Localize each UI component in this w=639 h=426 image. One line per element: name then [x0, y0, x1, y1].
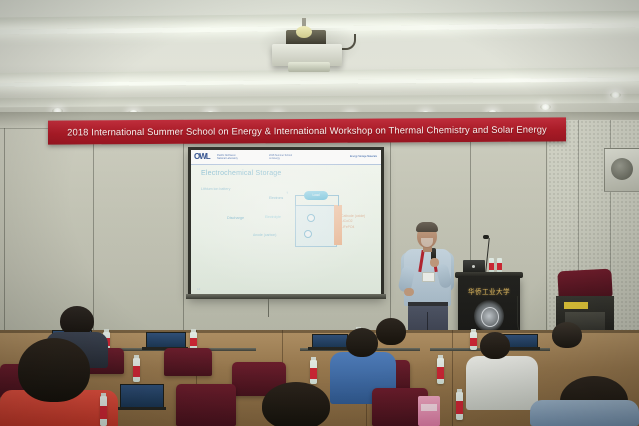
seat — [164, 348, 212, 376]
water-bottle — [100, 396, 107, 426]
slide-title: Electrochemical Storage — [201, 170, 281, 177]
projector-cable-bundle — [296, 26, 312, 38]
lecture-hall-photo: 2018 International Summer School on Ener… — [0, 0, 639, 426]
slide-header-right-text: Energy Storage Materials — [350, 155, 377, 158]
downlight-icon — [610, 92, 621, 98]
cathode-strip — [334, 205, 342, 245]
audience-head — [262, 382, 330, 426]
load-element: Load — [304, 191, 328, 200]
ion-icon — [304, 230, 312, 238]
audience-body — [530, 400, 639, 426]
water-bottle — [310, 360, 317, 384]
audience-head — [376, 318, 406, 345]
slide-subtitle: Lithium ion battery — [201, 187, 230, 191]
slide-header-left-text: Pacific Northwest National Laboratory — [217, 154, 238, 160]
load-label: Load — [304, 191, 328, 200]
podium-institution-text: 华侨工业大学 — [460, 286, 518, 296]
slide-label-electrons: Electrons — [269, 196, 283, 200]
water-bottle — [489, 258, 494, 273]
slide-label-electrolyte: Electrolyte — [265, 215, 281, 219]
banner-text: 2018 International Summer School on Ener… — [48, 117, 566, 144]
slide-header-center-text: 2018 Summer School on Energy — [269, 154, 292, 160]
slide-logo: OWL — [194, 152, 210, 161]
speaker-cone-icon — [611, 158, 633, 180]
slide-label-cathode: Cathode (oxide) LiCoO2 LiFePO4 — [341, 214, 365, 230]
ion-icon — [307, 214, 315, 222]
audience-head — [480, 332, 510, 359]
water-bottle — [497, 258, 502, 273]
pink-notebook — [418, 396, 440, 426]
projection-screen: OWL Pacific Northwest National Laborator… — [191, 150, 381, 294]
projector-lens — [288, 62, 330, 72]
battery-cell-diagram — [295, 205, 337, 247]
water-bottle — [456, 392, 463, 420]
audience-head — [346, 328, 378, 357]
screen-bottom-bar — [186, 294, 386, 299]
audience-head — [552, 322, 582, 348]
event-banner: 2018 International Summer School on Ener… — [48, 117, 566, 144]
water-bottle — [437, 358, 444, 384]
rack-warning-label — [564, 302, 588, 309]
downlight-icon — [540, 104, 551, 110]
audience-body — [466, 356, 538, 410]
water-bottle — [133, 358, 140, 382]
name-badge — [422, 272, 435, 282]
chair-back — [557, 269, 612, 300]
screen-cord — [268, 299, 269, 317]
water-bottle — [470, 332, 477, 350]
slide-label-discharge: Discharge — [227, 216, 244, 220]
slide-header: OWL Pacific Northwest National Laborator… — [191, 150, 381, 164]
slide-page-number: 12 — [197, 287, 200, 291]
audience-head — [18, 338, 90, 402]
seat — [176, 384, 236, 426]
slide-label-anode: Anode (carbon) — [253, 233, 276, 237]
